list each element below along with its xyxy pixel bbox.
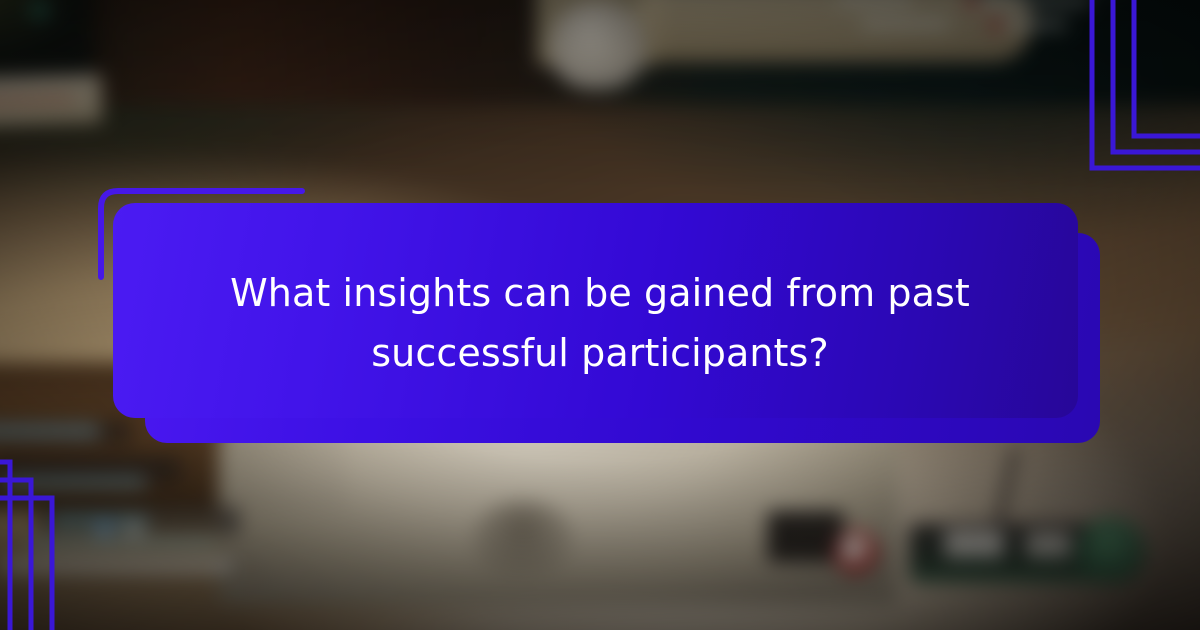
- social-card-canvas: What insights can be gained from past su…: [0, 0, 1200, 630]
- question-line-2: successful participants?: [371, 327, 828, 381]
- question-headline: What insights can be gained from past su…: [130, 205, 1070, 443]
- question-line-1: What insights can be gained from past: [230, 267, 970, 321]
